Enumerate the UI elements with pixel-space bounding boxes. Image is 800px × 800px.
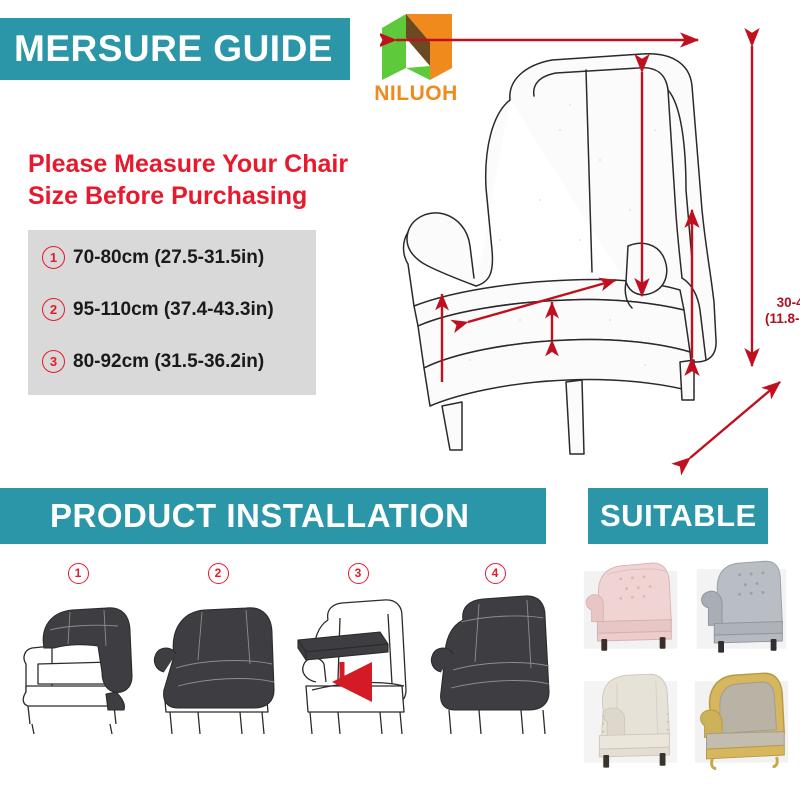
size-row-label: 70-80cm (27.5-31.5in) [73,247,264,269]
gold-frame-wingback-icon [689,666,794,774]
installation-steps: 1 [0,560,560,740]
suitable-chair-photo [578,552,683,660]
size-number-badge: 3 [42,350,65,373]
wingback-chair-drawing [380,10,800,480]
chair-measurement-diagram: 70-80cm(27.5-31.5in) 65-75cm (25.6-29.5i… [380,10,800,480]
size-row: 3 80-92cm (31.5-36.2in) [42,350,264,373]
size-row-label: 95-110cm (37.4-43.3in) [73,299,274,321]
install-step-1: 1 [8,560,148,736]
step-number: 1 [8,560,148,586]
infographic-page: MERSURE GUIDE NILUOH Please Measure Your… [0,0,800,800]
size-number-badge: 2 [42,298,65,321]
measure-headline: Please Measure Your Chair Size Before Pu… [28,148,378,212]
step-number: 3 [288,560,428,586]
suitable-chair-photo [689,666,794,774]
installation-banner: PRODUCT INSTALLATION [0,488,546,544]
install-step-4: 4 [425,560,565,736]
install-step-2: 2 [148,560,288,736]
step-number: 2 [148,560,288,586]
page-title: MERSURE GUIDE [0,28,333,70]
suitable-banner: SUITABLE [588,488,768,544]
size-row-label: 80-92cm (31.5-36.2in) [73,351,264,373]
size-list-panel: 1 70-80cm (27.5-31.5in) 2 95-110cm (37.4… [28,230,316,395]
installation-title: PRODUCT INSTALLATION [0,497,469,535]
size-number-badge: 1 [42,246,65,269]
gray-tufted-wingback-icon [689,552,794,660]
cream-nailhead-wingback-icon [578,666,683,774]
suitable-title: SUITABLE [588,498,757,534]
size-row: 1 70-80cm (27.5-31.5in) [42,246,264,269]
step-1-illustration [8,586,148,736]
step-3-illustration [288,586,428,736]
dim-label-arm-height: 30-40cm (11.8-15.7in) [765,295,800,327]
step-2-illustration [148,586,288,736]
pink-tufted-wingback-icon [578,552,683,660]
step-number: 4 [425,560,565,586]
suitable-chair-photo [689,552,794,660]
size-row: 2 95-110cm (37.4-43.3in) [42,298,274,321]
install-step-3: 3 [288,560,428,736]
header-banner: MERSURE GUIDE [0,18,350,80]
step-4-illustration [425,586,565,736]
suitable-chair-grid [578,552,794,774]
suitable-chair-photo [578,666,683,774]
